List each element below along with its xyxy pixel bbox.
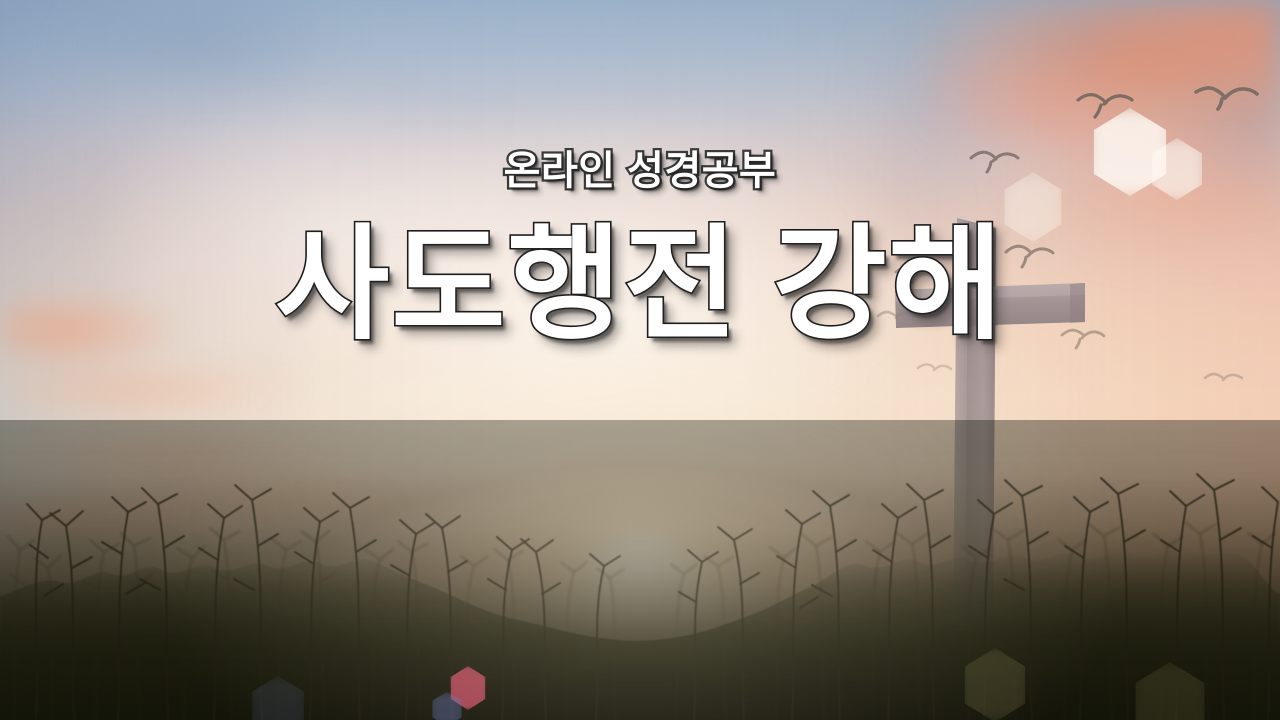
salmon-clouds-left [0,0,1280,720]
salmon-clouds-upper-right [0,0,1280,720]
sun-light-shaft [560,575,730,720]
sky-background [0,0,1280,720]
birds-group [0,0,1280,720]
grass-silhouette-front [0,400,1280,720]
title-block: 온라인 성경공부 사도행전 강해 [0,150,1280,351]
cross-icon [0,0,1280,720]
global-bloom [0,0,1280,720]
top-sky-vignette [0,0,1280,720]
center-haze-highlight [0,0,1280,720]
field-vignette [0,420,1280,720]
main-title-text: 사도행전 강해 [0,221,1280,351]
slide-canvas: 온라인 성경공부 사도행전 강해 [0,0,1280,720]
bird-icon [1205,374,1242,380]
subtitle-text: 온라인 성경공부 [504,150,777,193]
field-gradient [0,420,1280,720]
bokeh-flare-icon [960,648,1030,720]
bokeh-flare-icon [248,676,308,720]
sun-glow [0,0,1280,720]
bird-icon [1196,88,1257,109]
bird-icon [1078,95,1132,117]
sky-horizontal-wash [0,0,1280,720]
violet-cloud-wisps [0,0,1280,720]
bokeh-flare-icon [1130,662,1210,720]
grass-silhouette-back [0,400,1280,720]
bokeh-flare-blue-icon [430,692,464,720]
bird-icon [918,364,951,370]
bokeh-flare-pink-icon [448,666,488,710]
